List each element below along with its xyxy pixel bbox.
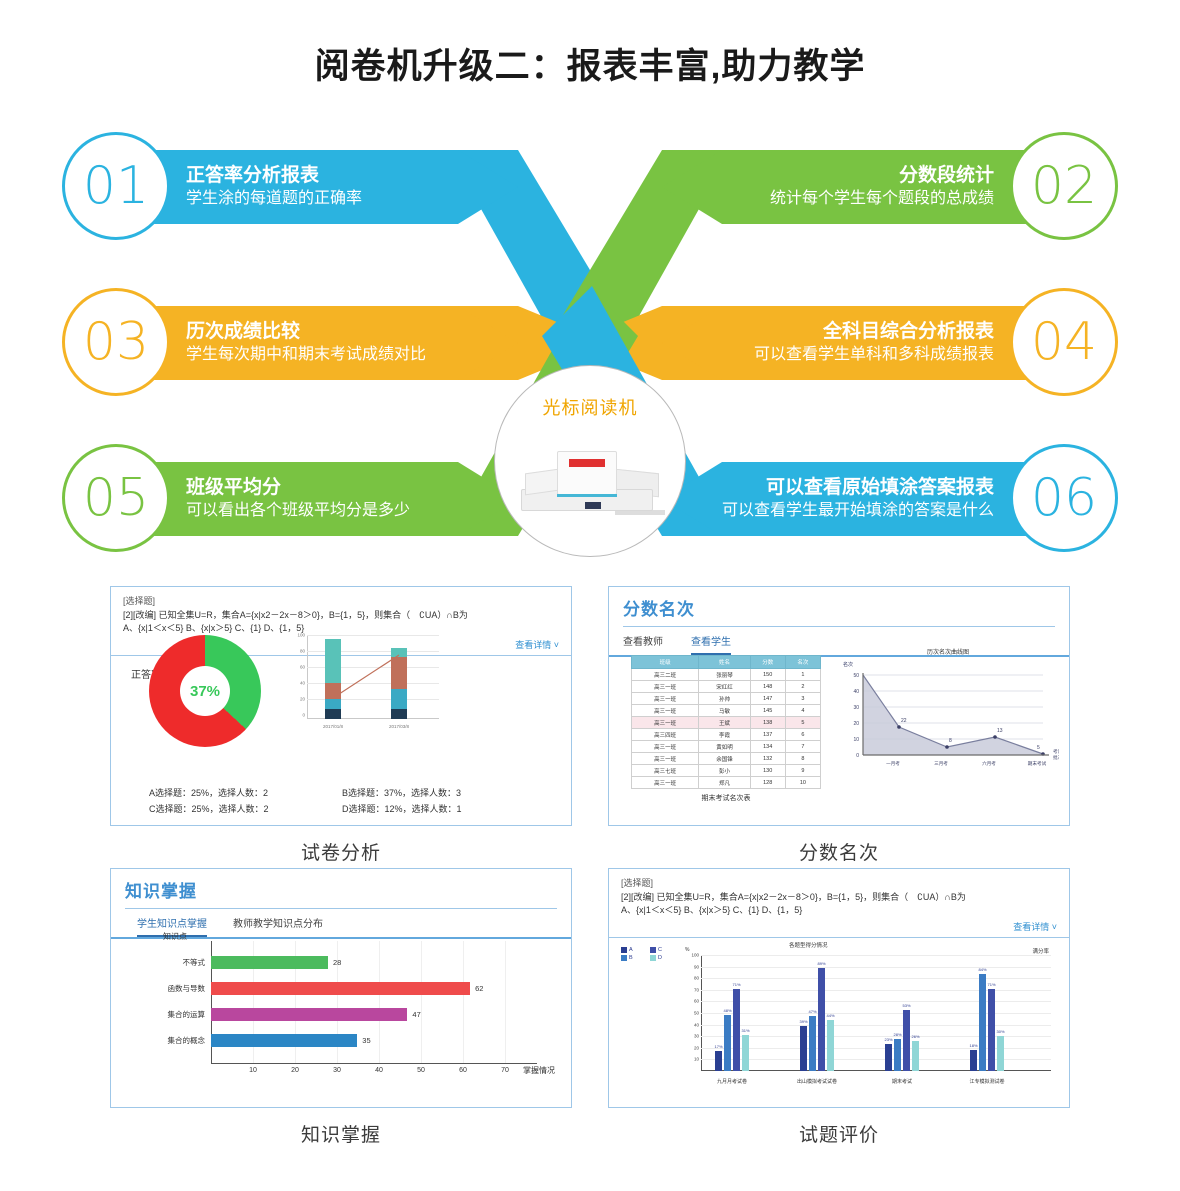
tab-view-student[interactable]: 查看学生 <box>691 633 731 655</box>
svg-text:8: 8 <box>949 738 952 744</box>
panel-3-title: 知识掌握 <box>125 877 557 902</box>
knowledge-bar-label: 函数与导数 <box>139 983 205 994</box>
bar-d: 26% <box>912 1041 919 1071</box>
bar-value-label: 44% <box>826 1013 834 1018</box>
bar-b: 84% <box>979 974 986 1071</box>
bar-value-label: 71% <box>732 982 740 987</box>
ribbon-05-title: 班级平均分 <box>186 476 478 500</box>
svg-text:50: 50 <box>853 673 859 679</box>
knowledge-bar-row: 集合的概念35 <box>211 1027 541 1053</box>
evaluation-grouped-bar-chart: 各题型得分情况 满分率 % 10203040506070809010017%48… <box>679 941 1057 1091</box>
rank-chart-title: 历次名次曲线图 <box>837 647 1059 656</box>
bar-value-label: 18% <box>969 1043 977 1048</box>
table-cell: 132 <box>750 753 785 765</box>
bar-c: 89% <box>818 968 825 1071</box>
panel-1-card: [选择题] [2][改编] 已知全集U=R，集合A={x|x2－2x－8＞0}，… <box>110 586 572 826</box>
table-cell: 8 <box>785 753 820 765</box>
knowledge-bar-row: 函数与导数62 <box>211 975 541 1001</box>
option-summary-a: A选择题：25%，选择人数：2 <box>149 786 342 801</box>
knowledge-bar-value: 47 <box>412 1010 420 1019</box>
svg-text:5: 5 <box>1037 745 1040 751</box>
panel-1-caption: 试卷分析 <box>110 838 572 865</box>
option-summary-c: C选择题：25%，选择人数：2 <box>149 802 342 817</box>
table-cell: 137 <box>750 729 785 741</box>
bar-value-label: 48% <box>723 1008 731 1013</box>
poster-root: 阅卷机升级二：报表丰富,助力教学 01 正答率分析报表 学生涂的每道题的正确率 … <box>0 0 1180 1191</box>
bar-value-label: 31% <box>741 1028 749 1033</box>
table-cell: 128 <box>750 777 785 789</box>
donut-center-label: 37% <box>180 666 230 716</box>
table-cell: 彭小 <box>699 765 750 777</box>
table-row[interactable]: 高三一班孙帅1473 <box>632 693 821 705</box>
table-cell: 李霞 <box>699 729 750 741</box>
knowledge-bar-value: 35 <box>362 1036 370 1045</box>
bar-a: 39% <box>800 1026 807 1071</box>
table-cell: 宋红红 <box>699 681 750 693</box>
rank-table-caption: 期末考试名次表 <box>631 793 821 803</box>
rank-col-name: 姓名 <box>699 656 750 669</box>
bar-b: 28% <box>894 1039 901 1071</box>
legend-item-a: A <box>621 947 650 953</box>
table-cell: 150 <box>750 669 785 681</box>
ribbon-01-title: 正答率分析报表 <box>186 164 478 188</box>
table-cell: 马敏 <box>699 705 750 717</box>
ribbon-06-title: 可以查看原始填涂答案报表 <box>708 476 994 500</box>
table-cell: 高三一班 <box>632 705 699 717</box>
svg-text:13: 13 <box>997 728 1003 734</box>
table-cell: 4 <box>785 705 820 717</box>
y-tick-label: 10 <box>681 1057 699 1062</box>
hub-circle: 光标阅读机 <box>494 365 686 557</box>
legend-item-b: B <box>621 955 650 961</box>
panel-2-header: 分数名次 <box>609 587 1069 627</box>
svg-text:期末考试: 期末考试 <box>1028 760 1047 767</box>
table-cell: 余国锋 <box>699 753 750 765</box>
badge-01: 01 <box>62 132 170 240</box>
trend-line <box>307 635 439 719</box>
y-tick-label: 70 <box>681 987 699 992</box>
table-row[interactable]: 高三二班张丽琴1501 <box>632 669 821 681</box>
table-row[interactable]: 高三七班彭小1309 <box>632 765 821 777</box>
bar-value-label: 53% <box>902 1003 910 1008</box>
ribbon-02-sub: 统计每个学生每个题段的总成绩 <box>708 189 994 210</box>
option-summary-list: A选择题：25%，选择人数：2 B选择题：37%，选择人数：3 C选择题：25%… <box>111 786 572 817</box>
ribbon-04-sub: 可以查看学生单科和多科成绩报表 <box>708 345 994 366</box>
panel-4-caption: 试题评价 <box>608 1120 1070 1147</box>
knowledge-bar-value: 62 <box>475 984 483 993</box>
option-summary-b: B选择题：37%，选择人数：3 <box>342 786 535 801</box>
svg-text:0: 0 <box>856 753 859 759</box>
knowledge-bar-row: 集合的运算47 <box>211 1001 541 1027</box>
eval-chart-title: 各题型得分情况 <box>789 941 828 949</box>
table-cell: 145 <box>750 705 785 717</box>
table-cell: 147 <box>750 693 785 705</box>
bar-d: 30% <box>997 1036 1004 1071</box>
knowledge-bar-row: 不等式28 <box>211 949 541 975</box>
svg-text:三月考: 三月考 <box>934 761 948 767</box>
bar-group: 39%47%89%44%出山模拟考试试卷 <box>800 955 834 1071</box>
bar-a: 23% <box>885 1044 892 1071</box>
bar-group: 18%84%71%30%江专模拟测试卷 <box>970 955 1004 1071</box>
infographic-row-1: 01 正答率分析报表 学生涂的每道题的正确率 02 分数段统计 统计每个学生每个… <box>0 132 1180 242</box>
y-tick-label: 20 <box>681 1045 699 1050</box>
table-cell: 高三七班 <box>632 765 699 777</box>
x-tick-label: 江专模拟测试卷 <box>969 1078 1004 1085</box>
knowledge-bar-label: 集合的运算 <box>139 1009 205 1020</box>
y-tick-label: 40 <box>681 1022 699 1027</box>
ribbon-06-sub: 可以查看学生最开始填涂的答案是什么 <box>708 501 994 522</box>
eval-chart-note: 满分率 <box>1032 947 1049 955</box>
svg-text:20: 20 <box>853 721 859 727</box>
rank-col-rank: 名次 <box>785 656 820 669</box>
ribbon-03-title: 历次成绩比较 <box>186 320 478 344</box>
svg-text:一月考: 一月考 <box>886 761 900 767</box>
knowledge-xlabel: 掌握情况 <box>523 1065 555 1076</box>
table-cell: 7 <box>785 741 820 753</box>
panel-question-evaluation: [选择题] [2][改编] 已知全集U=R，集合A={x|x2－2x－8＞0}，… <box>608 868 1070 1147</box>
rank-col-class: 班级 <box>632 656 699 669</box>
y-tick-label: 80 <box>681 976 699 981</box>
table-cell: 2 <box>785 681 820 693</box>
table-row[interactable]: 高三一班王斌1385 <box>632 717 821 729</box>
y-tick-label: 60 <box>681 999 699 1004</box>
bar-value-label: 47% <box>808 1009 816 1014</box>
panel-3-caption: 知识掌握 <box>110 1120 572 1147</box>
y-tick-label: 100 <box>681 953 699 958</box>
svg-text:22: 22 <box>901 718 907 724</box>
table-cell: 孙帅 <box>699 693 750 705</box>
question-type-label: [选择题] <box>123 595 559 609</box>
bar-a: 17% <box>715 1051 722 1071</box>
legend-item-c: C <box>650 947 679 953</box>
table-cell: 134 <box>750 741 785 753</box>
bar-d: 44% <box>827 1020 834 1071</box>
screenshot-panels: [选择题] [2][改编] 已知全集U=R，集合A={x|x2－2x－8＞0}，… <box>0 582 1180 1182</box>
x-tick-label: 期末考试 <box>892 1078 912 1085</box>
question-type-label-2: [选择题] <box>621 877 1057 891</box>
table-row[interactable]: 高三一班郑凡12810 <box>632 777 821 789</box>
badge-05: 05 <box>62 444 170 552</box>
table-cell: 3 <box>785 693 820 705</box>
panel-4-card: [选择题] [2][改编] 已知全集U=R，集合A={x|x2－2x－8＞0}，… <box>608 868 1070 1108</box>
bar-b: 47% <box>809 1016 816 1071</box>
table-cell: 高三二班 <box>632 669 699 681</box>
ribbon-03-sub: 学生每次期中和期末考试成绩对比 <box>186 345 478 366</box>
bar-c: 71% <box>733 989 740 1071</box>
knowledge-bar-chart: 知识点 不等式28函数与导数62集合的运算47集合的概念35 1020 3040… <box>111 931 572 1106</box>
panel-3-header: 知识掌握 <box>111 869 571 909</box>
table-cell: 郑凡 <box>699 777 750 789</box>
table-cell: 高三一班 <box>632 693 699 705</box>
panel-score-rank: 分数名次 查看教师 查看学生 班级 姓名 分数 名次 <box>608 586 1070 865</box>
svg-text:考试: 考试 <box>1053 748 1059 755</box>
ribbon-03[interactable]: 历次成绩比较 学生每次期中和期末考试成绩对比 <box>128 306 518 380</box>
knowledge-bar <box>211 956 328 969</box>
bar-value-label: 17% <box>714 1044 722 1049</box>
svg-text:30: 30 <box>853 705 859 711</box>
infographic: 01 正答率分析报表 学生涂的每道题的正确率 02 分数段统计 统计每个学生每个… <box>0 120 1180 570</box>
rank-col-score: 分数 <box>750 656 785 669</box>
scanner-machine-icon <box>515 432 665 517</box>
table-cell: 黄如明 <box>699 741 750 753</box>
rank-table-header-row: 班级 姓名 分数 名次 <box>632 656 821 669</box>
table-cell: 10 <box>785 777 820 789</box>
table-cell: 138 <box>750 717 785 729</box>
x-tick-label: 九月月考试卷 <box>717 1078 747 1085</box>
table-cell: 高三四班 <box>632 729 699 741</box>
y-tick-label: 90 <box>681 964 699 969</box>
table-cell: 张丽琴 <box>699 669 750 681</box>
badge-06: 06 <box>1010 444 1118 552</box>
ribbon-04[interactable]: 全科目综合分析报表 可以查看学生单科和多科成绩报表 <box>662 306 1052 380</box>
panel-knowledge-mastery: 知识掌握 学生知识点掌握 教师教学知识点分布 知识点 不等式28函数与导数 <box>110 868 572 1147</box>
bar-d: 31% <box>742 1035 749 1071</box>
badge-02: 02 <box>1010 132 1118 240</box>
y-tick-label: 30 <box>681 1034 699 1039</box>
bar-b: 48% <box>724 1015 731 1071</box>
bar-value-label: 23% <box>884 1037 892 1042</box>
ribbon-06[interactable]: 可以查看原始填涂答案报表 可以查看学生最开始填涂的答案是什么 <box>662 462 1052 536</box>
rank-table: 班级 姓名 分数 名次 高三二班张丽琴1501高三一班宋红红1482高三一班孙帅… <box>631 655 821 789</box>
knowledge-ylabel: 知识点 <box>163 931 187 942</box>
table-cell: 高三一班 <box>632 717 699 729</box>
table-cell: 5 <box>785 717 820 729</box>
badge-04: 04 <box>1010 288 1118 396</box>
panel-2-caption: 分数名次 <box>608 838 1070 865</box>
question-options-2: A、{x|1＜x＜5} B、{x|x＞5} C、{1} D、{1，5} <box>621 904 1057 918</box>
rank-history-area-chart: 历次名次曲线图 名次 <box>837 647 1059 797</box>
ribbon-01[interactable]: 正答率分析报表 学生涂的每道题的正确率 <box>128 150 518 224</box>
svg-text:六月考: 六月考 <box>982 760 996 767</box>
question-text: [2][改编] 已知全集U=R，集合A={x|x2－2x－8＞0}，B={1，5… <box>123 609 559 623</box>
knowledge-bar-label: 不等式 <box>139 957 205 968</box>
correct-rate-donut-chart: 37% <box>149 635 261 747</box>
bar-value-label: 71% <box>987 982 995 987</box>
y-tick-label: 50 <box>681 1011 699 1016</box>
ribbon-02-title: 分数段统计 <box>708 164 994 188</box>
table-cell: 高三一班 <box>632 777 699 789</box>
table-cell: 高三一班 <box>632 753 699 765</box>
bar-value-label: 28% <box>893 1032 901 1037</box>
table-cell: 高三一班 <box>632 741 699 753</box>
knowledge-bar <box>211 1008 407 1021</box>
svg-text:40: 40 <box>853 689 859 695</box>
panel-4-question: [选择题] [2][改编] 已知全集U=R，集合A={x|x2－2x－8＞0}，… <box>609 869 1069 938</box>
hub-label: 光标阅读机 <box>543 394 638 420</box>
panel-4-legend: A C B D <box>621 947 679 963</box>
bar-c: 53% <box>903 1010 910 1071</box>
ribbon-05-sub: 可以看出各个班级平均分是多少 <box>186 501 478 522</box>
panel-2-title: 分数名次 <box>623 595 1055 620</box>
table-row[interactable]: 高三一班马敏1454 <box>632 705 821 717</box>
panel-2-card: 分数名次 查看教师 查看学生 班级 姓名 分数 名次 <box>608 586 1070 826</box>
bar-group: 17%48%71%31%九月月考试卷 <box>715 955 749 1071</box>
bar-value-label: 84% <box>978 967 986 972</box>
table-cell: 高三一班 <box>632 681 699 693</box>
ribbon-01-sub: 学生涂的每道题的正确率 <box>186 189 478 210</box>
legend-item-d: D <box>650 955 679 961</box>
rank-chart-svg: 228 135 5040 3020 100 一月考三月考 六月考期末考试 <box>837 659 1059 789</box>
x-tick-label: 出山模拟考试试卷 <box>797 1078 837 1085</box>
bar-value-label: 39% <box>799 1019 807 1024</box>
table-row[interactable]: 高三一班宋红红1482 <box>632 681 821 693</box>
bar-value-label: 30% <box>996 1029 1004 1034</box>
table-row[interactable]: 高三一班黄如明1347 <box>632 741 821 753</box>
table-cell: 王斌 <box>699 717 750 729</box>
table-cell: 6 <box>785 729 820 741</box>
tab-view-teacher[interactable]: 查看教师 <box>623 633 663 655</box>
bar-value-label: 26% <box>911 1034 919 1039</box>
table-row[interactable]: 高三四班李霞1376 <box>632 729 821 741</box>
option-summary-d: D选择题：12%，选择人数：1 <box>342 802 535 817</box>
knowledge-bar-label: 集合的概念 <box>139 1035 205 1046</box>
table-cell: 130 <box>750 765 785 777</box>
ribbon-02[interactable]: 分数段统计 统计每个学生每个题段的总成绩 <box>662 150 1052 224</box>
bar-group: 23%28%53%26%期末考试 <box>885 955 919 1071</box>
ribbon-05[interactable]: 班级平均分 可以看出各个班级平均分是多少 <box>128 462 518 536</box>
stacked-column-chart: 100 80 60 40 20 0 <box>289 635 439 731</box>
bar-a: 18% <box>970 1050 977 1071</box>
knowledge-bar <box>211 982 470 995</box>
panel-paper-analysis: [选择题] [2][改编] 已知全集U=R，集合A={x|x2－2x－8＞0}，… <box>110 586 572 865</box>
table-cell: 9 <box>785 765 820 777</box>
bar-value-label: 89% <box>817 961 825 966</box>
table-cell: 1 <box>785 669 820 681</box>
knowledge-bar-value: 28 <box>333 958 341 967</box>
svg-text:10: 10 <box>853 737 859 743</box>
bar-c: 71% <box>988 989 995 1071</box>
ribbon-04-title: 全科目综合分析报表 <box>708 320 994 344</box>
question-text-2: [2][改编] 已知全集U=R，集合A={x|x2－2x－8＞0}，B={1，5… <box>621 891 1057 905</box>
page-title: 阅卷机升级二：报表丰富,助力教学 <box>0 38 1180 89</box>
badge-03: 03 <box>62 288 170 396</box>
view-detail-link-2[interactable]: 查看详情 ˅ <box>621 918 1057 933</box>
table-row[interactable]: 高三一班余国锋1328 <box>632 753 821 765</box>
panel-3-card: 知识掌握 学生知识点掌握 教师教学知识点分布 知识点 不等式28函数与导数 <box>110 868 572 1108</box>
knowledge-bar <box>211 1034 357 1047</box>
table-cell: 148 <box>750 681 785 693</box>
svg-text:批次: 批次 <box>1053 754 1059 761</box>
